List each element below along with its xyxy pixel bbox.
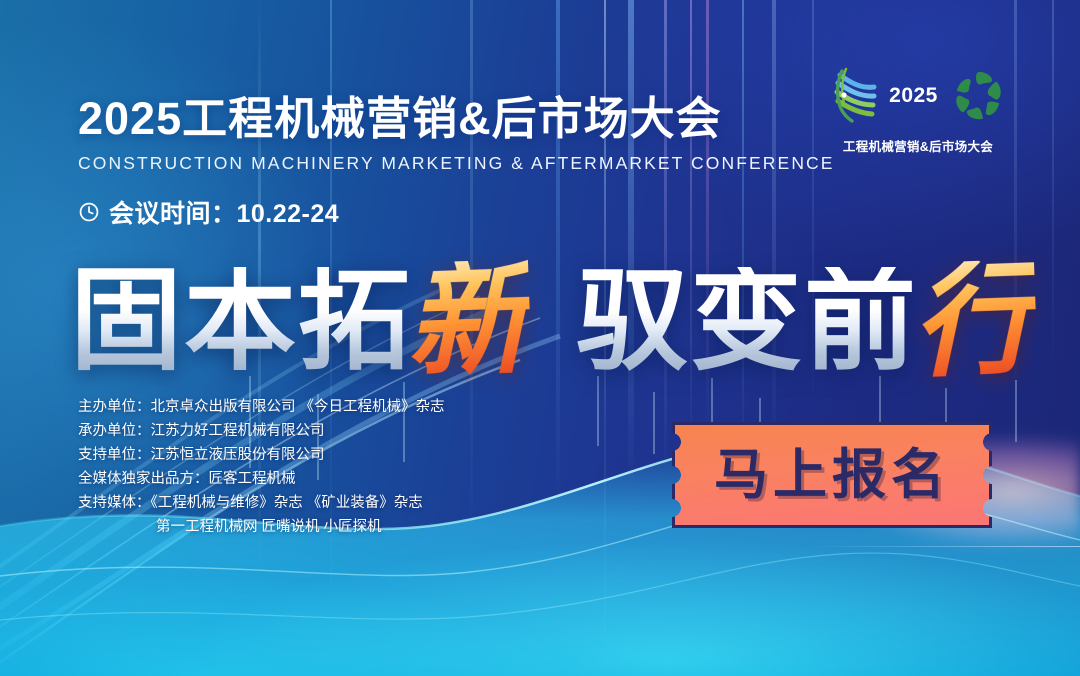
promo-banner: 2025工程机械营销&后市场大会 CONSTRUCTION MACHINERY … [0,0,1080,676]
clock-icon [78,201,100,223]
main-headline: 固本拓 新 驭变前 行 [70,255,1030,374]
logo-caption: 工程机械营销&后市场大会 [838,136,998,155]
logo-year: 2025 [889,85,938,106]
green-ring-logo-icon [952,68,1006,122]
register-now-label: 马上报名 [714,448,950,502]
headline-part2-accent: 行 [910,259,1038,382]
horizon-line [810,546,1080,547]
swoosh-logo-icon [830,65,882,125]
date-text: 会议时间：10.22-24 [109,194,339,230]
register-now-button[interactable]: 马上报名 [672,422,992,528]
page-subtitle-en: CONSTRUCTION MACHINERY MARKETING & AFTER… [78,153,835,174]
credit-line: 主办单位：北京卓众出版有限公司 《今日工程机械》杂志 [78,400,478,415]
page-title: 2025工程机械营销&后市场大会 [78,96,835,141]
credits-block: 主办单位：北京卓众出版有限公司 《今日工程机械》杂志 承办单位：江苏力好工程机械… [78,400,478,544]
credit-line: 第一工程机械网 匠嘴说机 小匠探机 [78,520,478,535]
credit-line: 支持媒体：《工程机械与维修》杂志 《矿业装备》杂志 [78,496,478,511]
credit-line: 承办单位：江苏力好工程机械有限公司 [78,424,478,439]
conference-date: 会议时间：10.22-24 [78,194,835,230]
headline-part1-accent: 新 [404,259,532,382]
header-block: 2025工程机械营销&后市场大会 CONSTRUCTION MACHINERY … [78,96,835,230]
credit-line: 支持单位：江苏恒立液压股份有限公司 [78,448,478,463]
headline-part1-white: 固本拓 [70,267,412,375]
conference-logo: 2025 工程机械营销&后市场大会 [838,58,998,155]
headline-part2-white: 驭变前 [576,267,918,375]
credit-line: 全媒体独家出品方：匠客工程机械 [78,472,478,487]
